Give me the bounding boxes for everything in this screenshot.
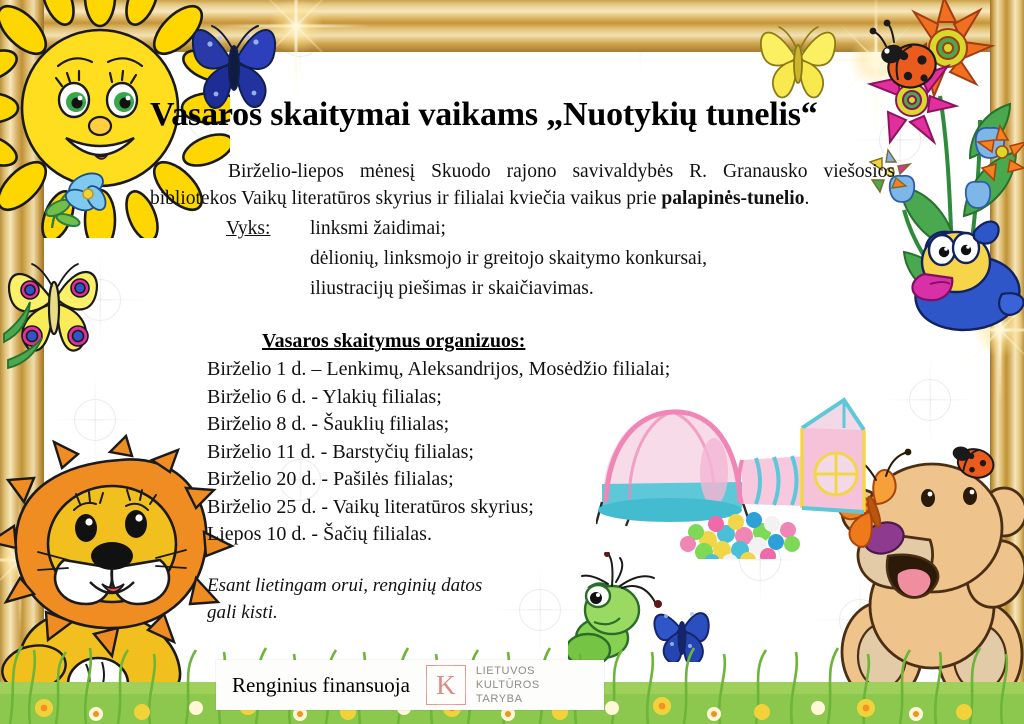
lkt-word-line1: LIETUVOS [476, 664, 540, 678]
organizers-list: Birželio 1 d. – Lenkimų, Aleksandrijos, … [207, 356, 670, 549]
list-item: Birželio 8 d. - Šauklių filialas; [207, 411, 670, 439]
sponsor-bar: Renginius finansuoja K LIETUVOS KULTŪROS… [216, 660, 604, 710]
activities-label: Vyks: [226, 214, 310, 244]
activity-item-2: dėlionių, linksmojo ir greitojo skaitymo… [310, 244, 707, 274]
weather-note-line1: Esant lietingam orui, renginių datos [207, 572, 482, 599]
poster-canvas: Vasaros skaitymai vaikams „Nuotykių tune… [0, 0, 1024, 724]
lkt-wordmark: LIETUVOS KULTŪROS TARYBA [476, 664, 540, 706]
activities-block: Vyks: linksmi žaidimai; dėlionių, linksm… [226, 214, 707, 304]
activity-item-1: linksmi žaidimai; [310, 214, 446, 244]
activity-item-3: iliustracijų piešimas ir skaičiavimas. [310, 274, 707, 304]
lietuvos-kulturos-taryba-logo: K LIETUVOS KULTŪROS TARYBA [426, 664, 540, 706]
yellow-butterfly-left [2, 248, 112, 378]
list-item: Liepos 10 d. - Šačių filialas. [207, 521, 670, 549]
organizers-heading: Vasaros skaitymus organizuos: [262, 330, 525, 353]
intro-period: . [804, 188, 809, 209]
activities-first-row: Vyks: linksmi žaidimai; [226, 214, 707, 244]
yellow-butterfly-top [750, 14, 846, 102]
intro-bold: palapinės-tunelio [661, 188, 804, 209]
sponsor-text: Renginius finansuoja [232, 673, 410, 698]
list-item: Birželio 1 d. – Lenkimų, Aleksandrijos, … [207, 356, 670, 384]
weather-note-line2: gali kisti. [207, 599, 482, 626]
weather-note: Esant lietingam orui, renginių datos gal… [207, 572, 482, 626]
lkt-word-line3: TARYBA [476, 692, 540, 706]
blue-bird-illustration [902, 202, 1024, 337]
lkt-word-line2: KULTŪROS [476, 678, 540, 692]
lkt-letter: K [426, 665, 466, 705]
intro-paragraph: Birželio-liepos mėnesį Skuodo rajono sav… [150, 158, 895, 212]
list-item: Birželio 11 d. - Barstyčių filialas; [207, 439, 670, 467]
list-item: Birželio 20 d. - Pašilės filialas; [207, 466, 670, 494]
list-item: Birželio 25 d. - Vaikų literatūros skyri… [207, 494, 670, 522]
list-item: Birželio 6 d. - Ylakių filialas; [207, 384, 670, 412]
blue-flower-icon [38, 146, 128, 236]
lkt-mark-icon: K [426, 665, 466, 705]
page-title: Vasaros skaitymai vaikams „Nuotykių tune… [150, 96, 910, 134]
